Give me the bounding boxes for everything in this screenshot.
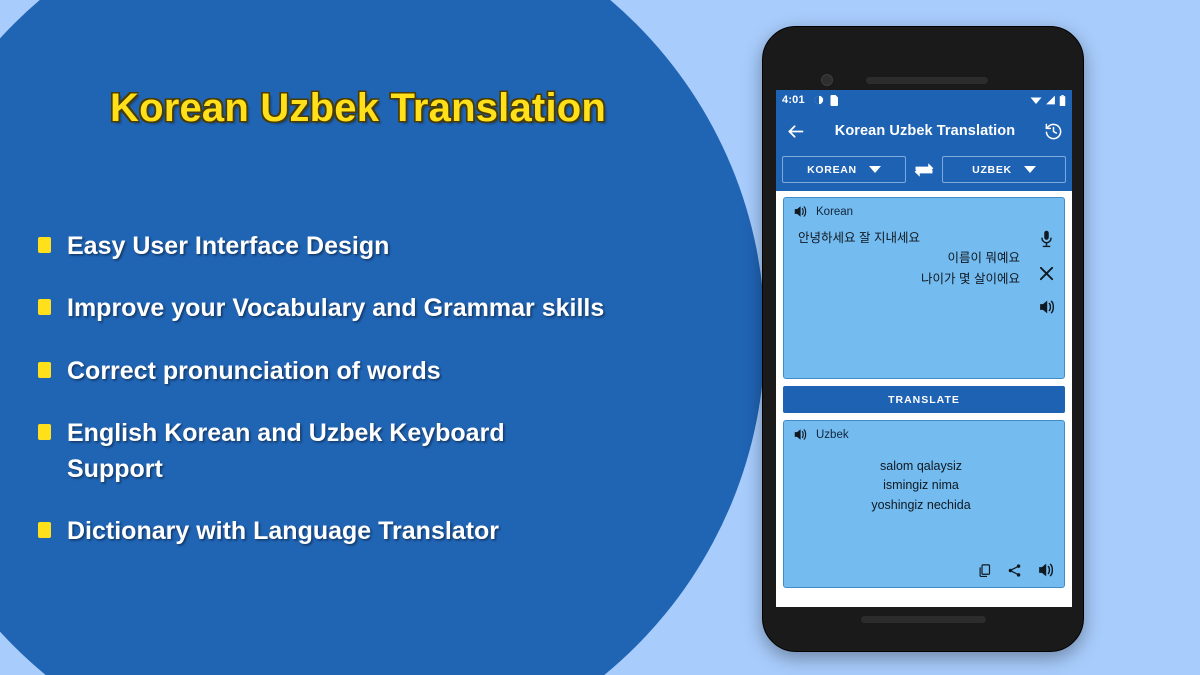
target-text-line: yoshingiz nechida bbox=[798, 496, 1044, 515]
bullet-square-icon bbox=[38, 362, 51, 378]
earpiece-speaker-icon bbox=[866, 77, 988, 84]
target-text-output: salom qalaysiz ismingiz nima yoshingiz n… bbox=[784, 443, 1064, 515]
list-item: English Korean and Uzbek Keyboard Suppor… bbox=[38, 415, 738, 488]
status-bar: 4:01 bbox=[776, 90, 1072, 110]
alarm-icon bbox=[814, 95, 824, 105]
status-bar-time: 4:01 bbox=[782, 94, 805, 106]
language-selector-bar: KOREAN UZBEK bbox=[776, 152, 1072, 191]
bullet-square-icon bbox=[38, 522, 51, 538]
source-text-line: 나이가 몇 살이에요 bbox=[798, 269, 1020, 289]
sim-card-icon bbox=[830, 95, 839, 106]
history-icon[interactable] bbox=[1044, 122, 1063, 141]
target-language-label: UZBEK bbox=[972, 164, 1012, 176]
microphone-icon[interactable] bbox=[1039, 230, 1054, 248]
translator-body: Korean 안녕하세요 잘 지내세요 이름이 뭐예요 나이가 몇 살이에요 bbox=[776, 191, 1072, 607]
source-card-actions bbox=[1038, 230, 1055, 315]
bottom-speaker-icon bbox=[861, 616, 986, 623]
cellular-signal-icon bbox=[1045, 95, 1056, 105]
chevron-down-icon bbox=[869, 166, 881, 173]
phone-mockup: 4:01 bbox=[762, 26, 1084, 652]
target-language-dropdown[interactable]: UZBEK bbox=[942, 156, 1066, 183]
swap-horizontal-icon[interactable] bbox=[912, 161, 936, 179]
list-item: Improve your Vocabulary and Grammar skil… bbox=[38, 290, 738, 326]
chevron-down-icon bbox=[1024, 166, 1036, 173]
battery-icon bbox=[1059, 95, 1066, 106]
source-card-language-label: Korean bbox=[816, 206, 853, 218]
list-item: Easy User Interface Design bbox=[38, 228, 738, 264]
bullet-square-icon bbox=[38, 424, 51, 440]
feature-label: Dictionary with Language Translator bbox=[67, 513, 499, 549]
feature-label: Correct pronunciation of words bbox=[67, 353, 441, 389]
source-text-line: 안녕하세요 잘 지내세요 bbox=[798, 228, 1020, 248]
speaker-icon[interactable] bbox=[1038, 299, 1055, 315]
source-language-dropdown[interactable]: KOREAN bbox=[782, 156, 906, 183]
app-bar-title: Korean Uzbek Translation bbox=[806, 123, 1044, 139]
feature-label: Easy User Interface Design bbox=[67, 228, 389, 264]
list-item: Dictionary with Language Translator bbox=[38, 513, 738, 549]
speaker-icon[interactable] bbox=[1037, 562, 1054, 578]
copy-icon[interactable] bbox=[977, 563, 992, 578]
speaker-icon[interactable] bbox=[793, 428, 807, 441]
source-text-line: 이름이 뭐예요 bbox=[798, 248, 1020, 268]
source-text-input[interactable]: 안녕하세요 잘 지내세요 이름이 뭐예요 나이가 몇 살이에요 bbox=[784, 220, 1064, 289]
target-card-language-label: Uzbek bbox=[816, 429, 849, 441]
share-icon[interactable] bbox=[1007, 563, 1022, 578]
promo-banner: Korean Uzbek Translation Easy User Inter… bbox=[0, 0, 1200, 675]
bullet-square-icon bbox=[38, 237, 51, 253]
list-item: Correct pronunciation of words bbox=[38, 353, 738, 389]
translate-button[interactable]: TRANSLATE bbox=[783, 386, 1065, 413]
front-camera-icon bbox=[821, 74, 833, 86]
feature-list: Easy User Interface Design Improve your … bbox=[38, 228, 738, 576]
target-card-header: Uzbek bbox=[784, 421, 1064, 443]
source-text-card[interactable]: Korean 안녕하세요 잘 지내세요 이름이 뭐예요 나이가 몇 살이에요 bbox=[783, 197, 1065, 379]
source-language-label: KOREAN bbox=[807, 164, 857, 176]
app-bar: Korean Uzbek Translation bbox=[776, 110, 1072, 152]
back-arrow-icon[interactable] bbox=[785, 121, 806, 142]
phone-screen: 4:01 bbox=[776, 90, 1072, 607]
promo-panel: Korean Uzbek Translation Easy User Inter… bbox=[0, 0, 760, 675]
wifi-icon bbox=[1030, 95, 1042, 105]
page-title: Korean Uzbek Translation bbox=[110, 86, 606, 131]
source-card-header: Korean bbox=[784, 198, 1064, 220]
feature-label: English Korean and Uzbek Keyboard Suppor… bbox=[67, 415, 587, 488]
speaker-icon[interactable] bbox=[793, 205, 807, 218]
target-text-line: salom qalaysiz bbox=[798, 457, 1044, 476]
feature-label: Improve your Vocabulary and Grammar skil… bbox=[67, 290, 604, 326]
bullet-square-icon bbox=[38, 299, 51, 315]
clear-icon[interactable] bbox=[1038, 265, 1055, 282]
target-text-line: ismingiz nima bbox=[798, 476, 1044, 495]
target-card-actions bbox=[977, 562, 1054, 578]
target-text-card[interactable]: Uzbek salom qalaysiz ismingiz nima yoshi… bbox=[783, 420, 1065, 588]
